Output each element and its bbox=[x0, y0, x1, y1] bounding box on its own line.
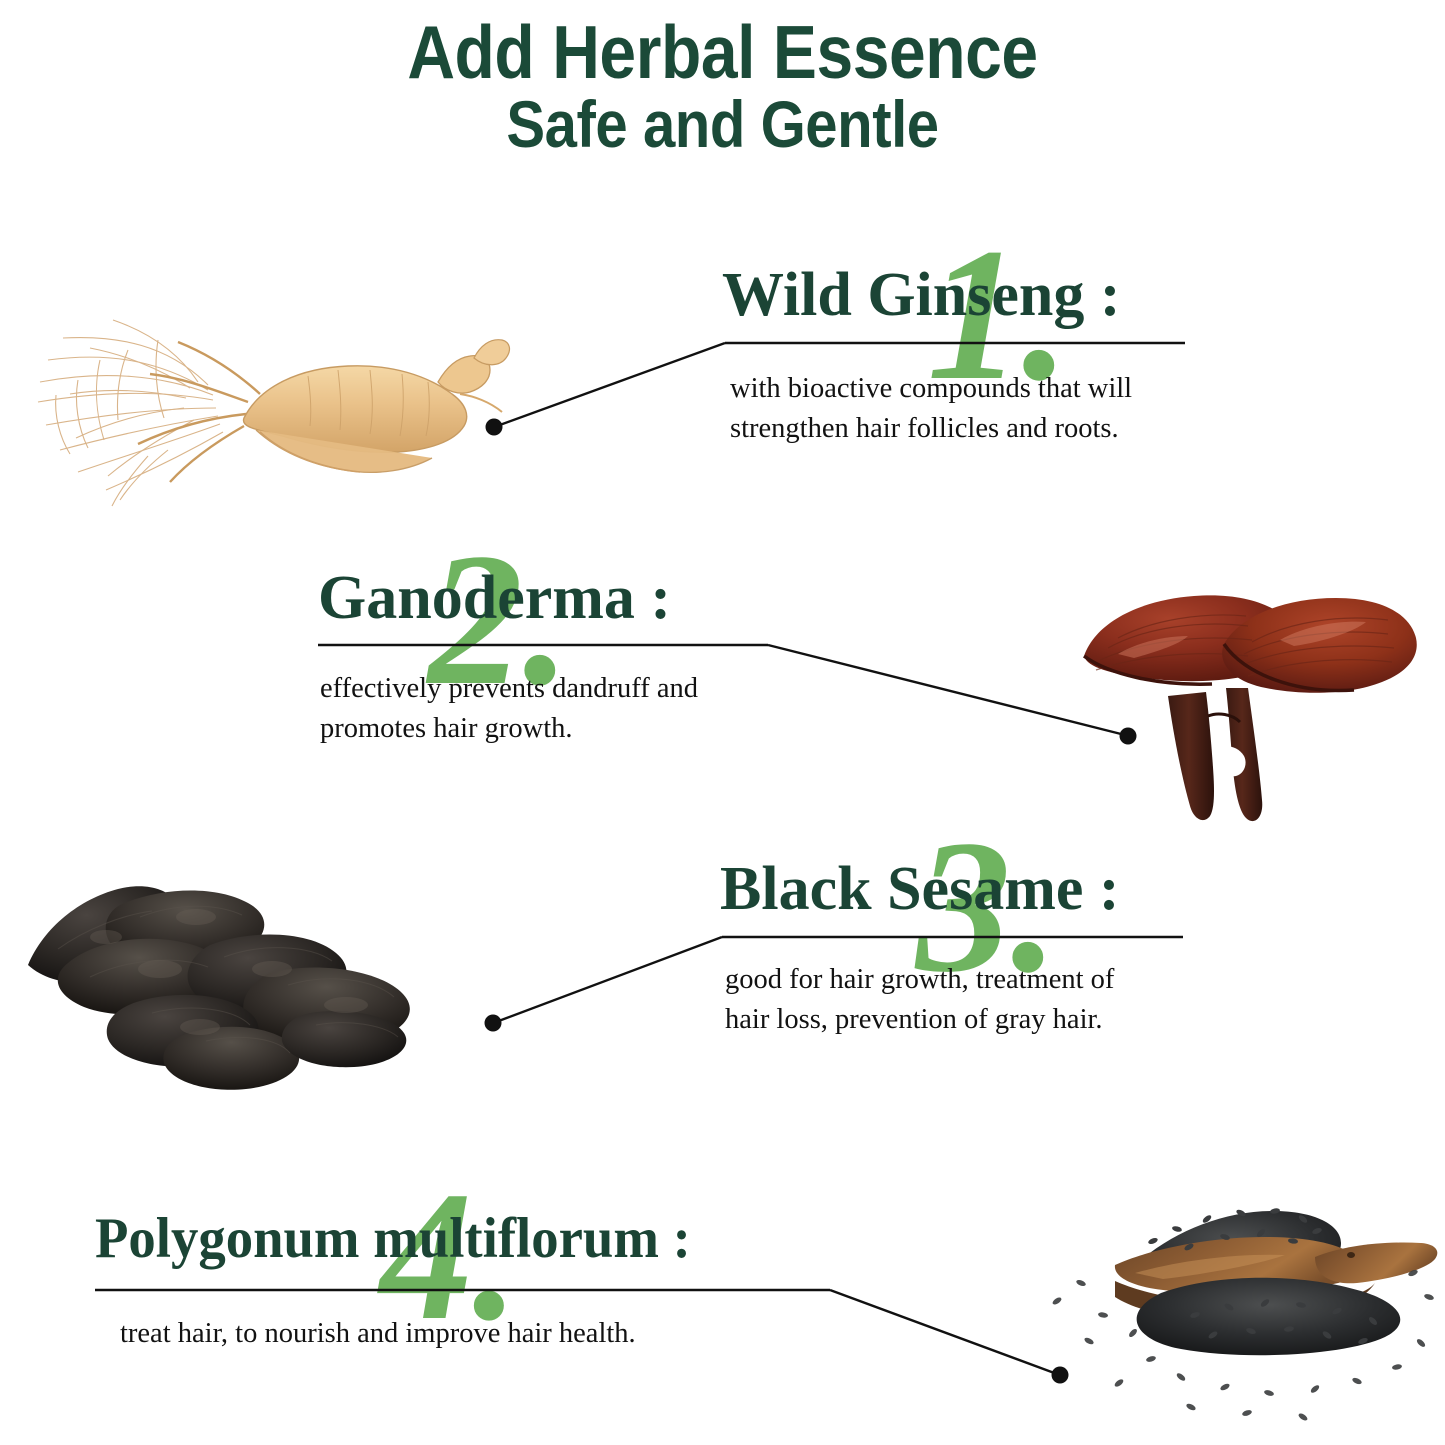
item-body-1-line-2: strengthen hair follicles and roots. bbox=[730, 409, 1192, 449]
item-body-1: with bioactive compounds that will stren… bbox=[722, 369, 1192, 450]
title-line-2: Safe and Gentle bbox=[87, 91, 1359, 158]
item-heading-4: Polygonum multiflorum : bbox=[95, 1180, 825, 1267]
item-wild-ginseng: 1. Wild Ginseng : with bioactive compoun… bbox=[722, 232, 1192, 450]
item-body-4: treat hair, to nourish and improve hair … bbox=[95, 1314, 855, 1354]
leader-line-3 bbox=[496, 937, 722, 1022]
item-heading-2: Ganoderma : bbox=[318, 535, 788, 629]
heading-wrap-4: 4. Polygonum multiflorum : bbox=[95, 1180, 855, 1290]
heading-wrap-3: 3. Black Sesame : bbox=[720, 826, 1190, 938]
item-body-1-line-1: with bioactive compounds that will bbox=[730, 369, 1192, 409]
title-line-1: Add Herbal Essence bbox=[87, 14, 1359, 91]
item-body-3-line-1: good for hair growth, treatment of bbox=[725, 960, 1190, 1000]
leader-dot-3 bbox=[485, 1015, 502, 1032]
item-heading-3: Black Sesame : bbox=[720, 826, 1190, 920]
ginseng-root-image bbox=[8, 290, 528, 520]
item-body-3: good for hair growth, treatment of hair … bbox=[720, 960, 1190, 1041]
item-polygonum-multiflorum: 4. Polygonum multiflorum : treat hair, t… bbox=[95, 1180, 855, 1354]
heading-wrap-2: 2. Ganoderma : bbox=[318, 535, 788, 647]
polygonum-slices-image bbox=[10, 845, 460, 1110]
item-body-4-line-1: treat hair, to nourish and improve hair … bbox=[120, 1314, 855, 1354]
black-sesame-seeds-image bbox=[985, 1145, 1445, 1435]
item-ganoderma: 2. Ganoderma : effectively prevents dand… bbox=[318, 535, 788, 750]
item-body-2: effectively prevents dandruff and promot… bbox=[318, 669, 788, 750]
leader-line-1 bbox=[497, 343, 725, 426]
item-black-sesame: 3. Black Sesame : good for hair growth, … bbox=[720, 826, 1190, 1041]
page-title: Add Herbal Essence Safe and Gentle bbox=[0, 14, 1445, 158]
item-body-3-line-2: hair loss, prevention of gray hair. bbox=[725, 1000, 1190, 1040]
item-heading-1: Wild Ginseng : bbox=[722, 232, 1192, 326]
heading-wrap-1: 1. Wild Ginseng : bbox=[722, 232, 1192, 347]
item-body-2-line-2: promotes hair growth. bbox=[320, 709, 788, 749]
item-body-2-line-1: effectively prevents dandruff and bbox=[320, 669, 788, 709]
ganoderma-mushroom-image bbox=[1048, 548, 1428, 828]
